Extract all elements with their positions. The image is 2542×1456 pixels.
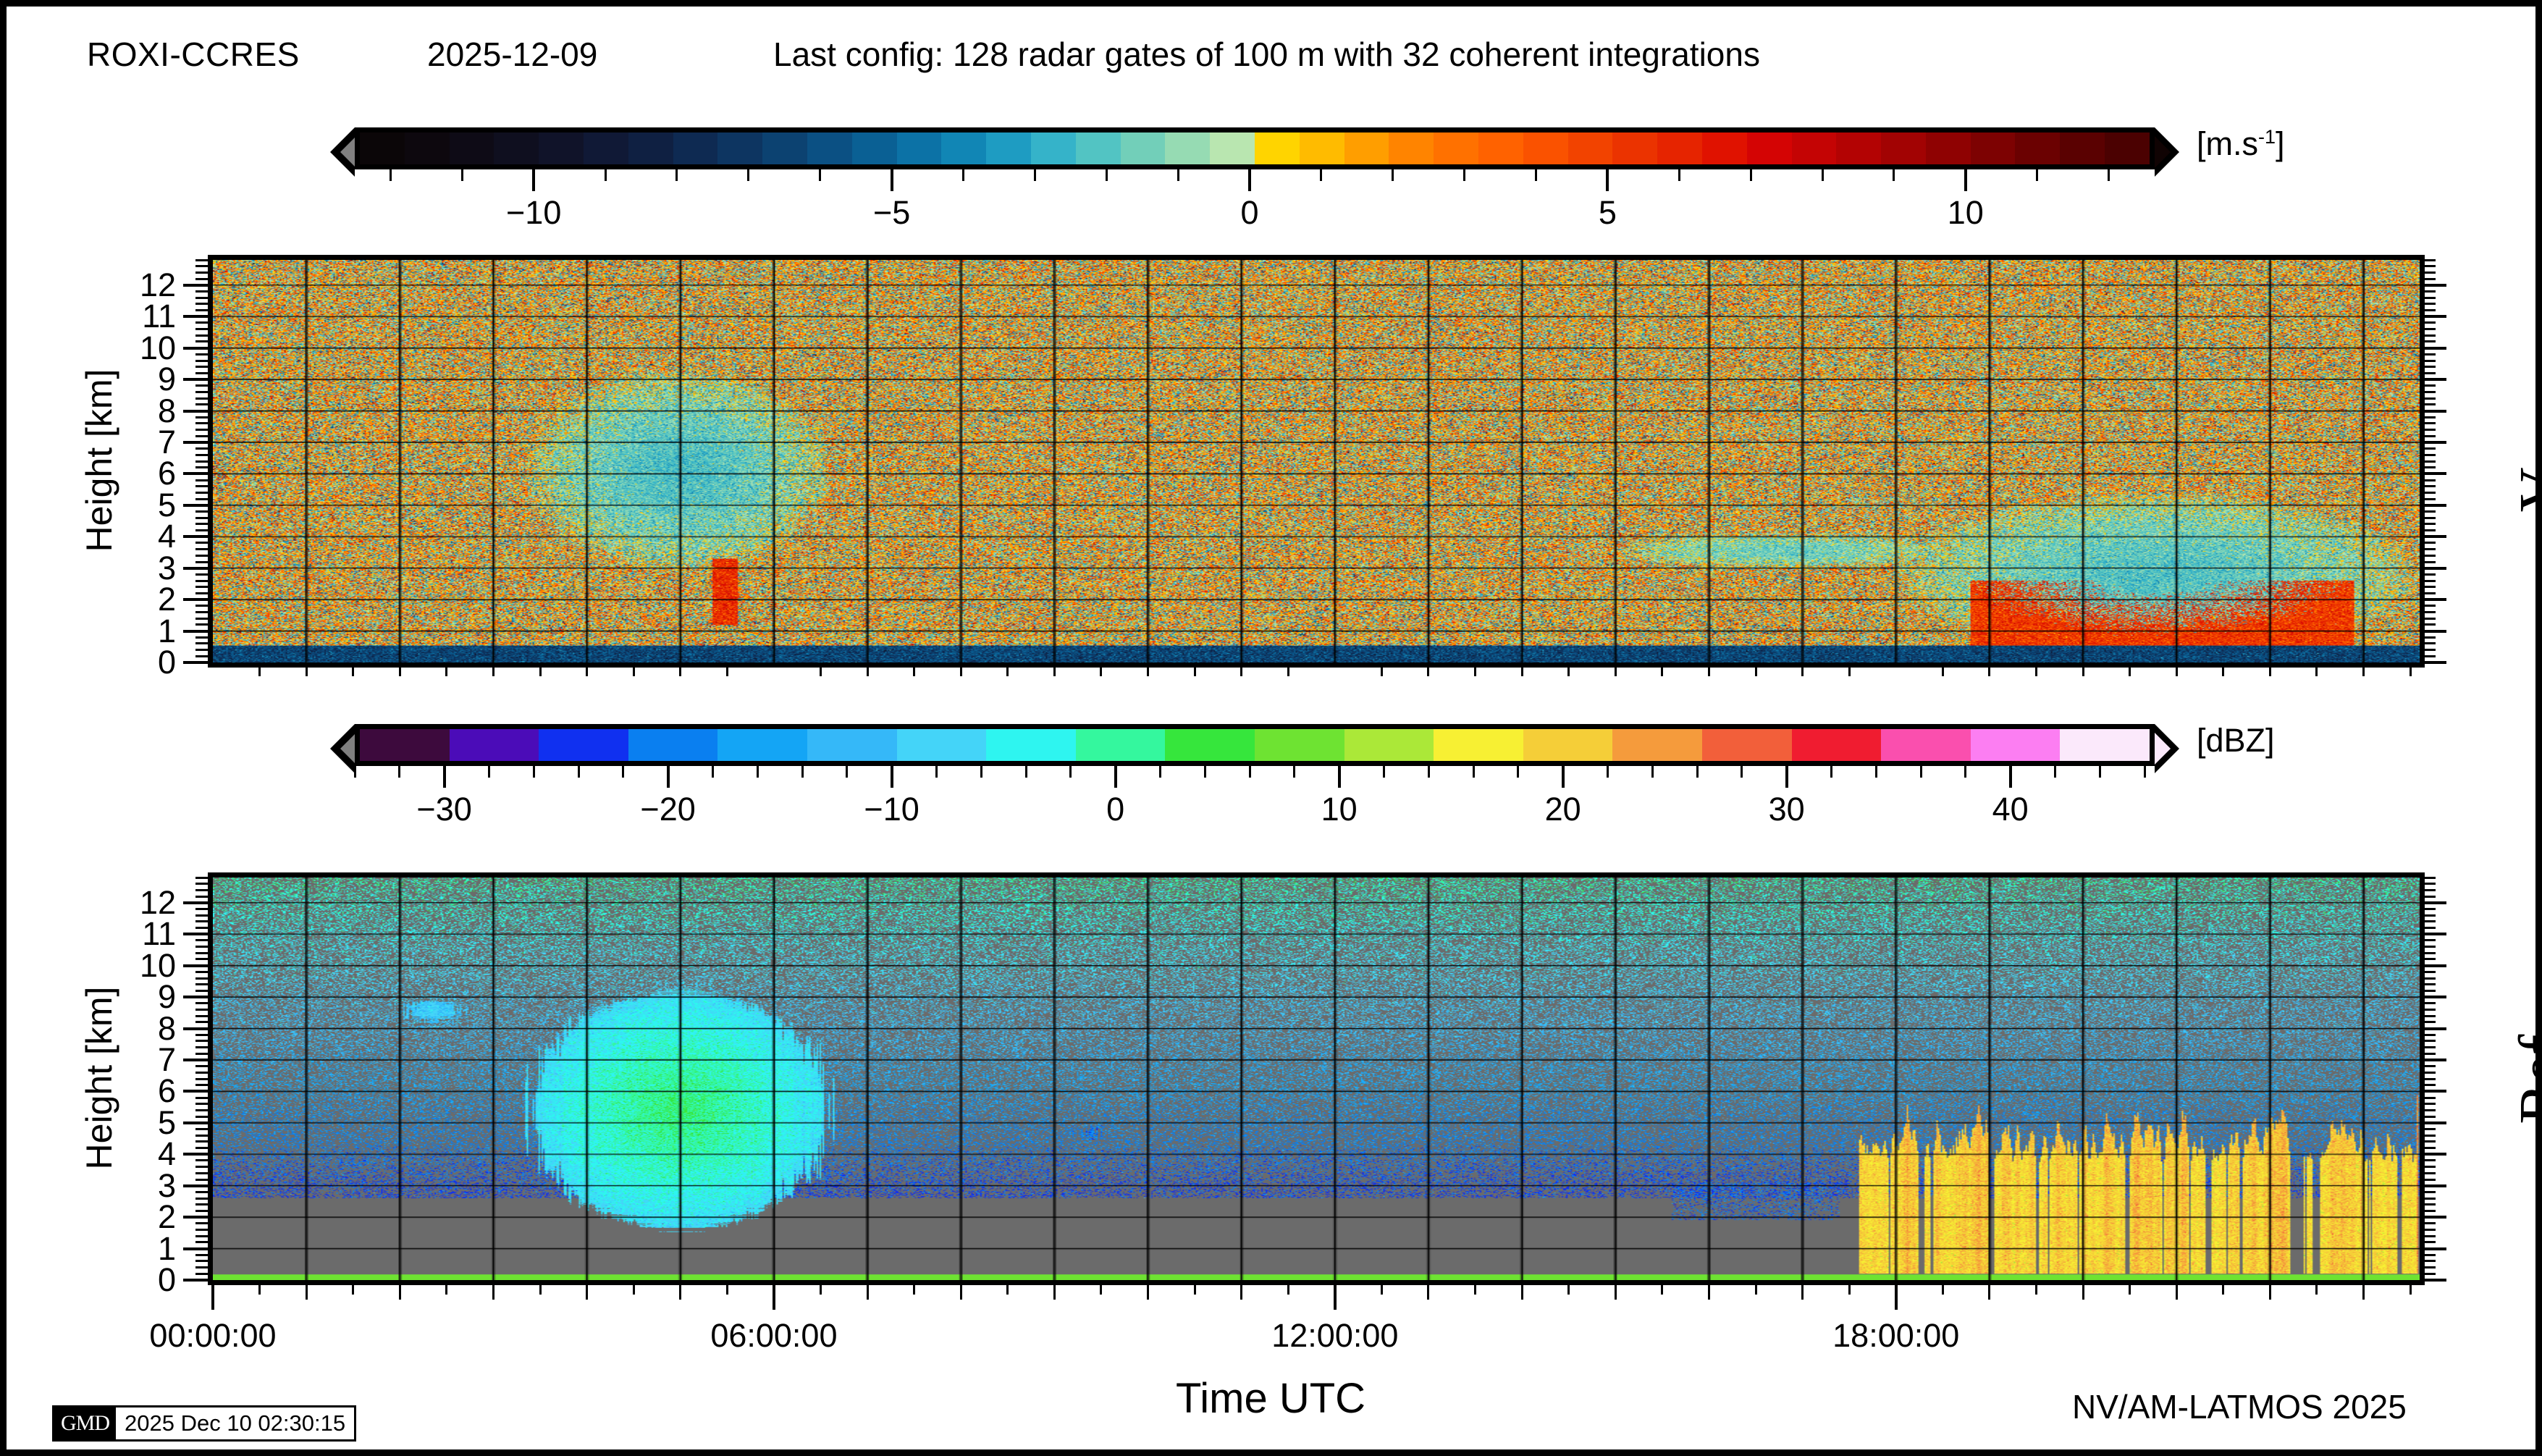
- x-axis-minor-tick-top: [352, 668, 354, 676]
- colorbar-minor-tick: [935, 766, 938, 778]
- y-axis-minor-tick: [195, 1002, 208, 1004]
- x-axis-minor-tick: [1006, 1285, 1009, 1295]
- colorbar-minor-tick: [2108, 169, 2110, 181]
- y-axis-minor-tick: [2425, 454, 2436, 456]
- y-axis-minor-tick: [195, 1097, 208, 1099]
- x-axis-minor-tick: [820, 1285, 822, 1295]
- colorbar-tick-label: 5: [1599, 194, 1617, 232]
- y-axis-minor-tick: [195, 309, 208, 311]
- x-axis-minor-tick-top: [445, 668, 447, 676]
- y-axis-minor-tick: [2425, 372, 2436, 374]
- y-axis-minor-tick: [195, 372, 208, 374]
- y-axis-minor-tick: [2425, 1241, 2436, 1243]
- y-axis-minor-tick: [195, 1084, 208, 1086]
- colorbar-minor-tick: [1249, 766, 1251, 778]
- y-axis-minor-tick: [195, 510, 208, 513]
- y-axis-major-tick-right: [2425, 472, 2446, 475]
- colorbar-tick-label: −10: [864, 791, 919, 828]
- y-axis-minor-tick: [195, 914, 208, 917]
- y-axis-minor-tick: [195, 611, 208, 613]
- colorbar-minor-tick: [1428, 766, 1430, 778]
- colorbar-major-tick: [1562, 766, 1565, 788]
- y-axis-minor-tick: [2425, 1078, 2436, 1080]
- y-axis-major-tick: [183, 1279, 208, 1282]
- y-axis-minor-tick: [195, 1021, 208, 1023]
- colorbar-minor-tick: [846, 766, 848, 778]
- x-axis-minor-tick: [1194, 1285, 1196, 1295]
- y-axis-minor-tick: [195, 1135, 208, 1137]
- y-axis-major-tick: [183, 315, 208, 318]
- x-axis-minor-tick-top: [633, 668, 635, 676]
- y-axis-minor-tick: [2425, 623, 2436, 626]
- y-axis-minor-tick: [195, 939, 208, 941]
- x-axis-minor-tick: [352, 1285, 354, 1295]
- colorbar-minor-tick: [1535, 169, 1537, 181]
- y-axis-minor-tick: [195, 983, 208, 985]
- x-axis-minor-tick: [1848, 1285, 1851, 1295]
- colorbar-minor-tick: [1893, 169, 1895, 181]
- y-axis-major-tick-right: [2425, 347, 2446, 350]
- y-axis-minor-tick: [2425, 1254, 2436, 1256]
- x-axis-title: Time UTC: [1176, 1374, 1365, 1423]
- y-axis-minor-tick: [2425, 1229, 2436, 1231]
- y-axis-minor-tick: [2425, 429, 2436, 431]
- x-axis-minor-tick-top: [539, 668, 542, 676]
- x-axis-minor-tick-top: [1194, 668, 1196, 676]
- y-axis-minor-tick: [2425, 517, 2436, 519]
- y-axis-minor-tick: [195, 416, 208, 418]
- y-axis-minor-tick: [195, 636, 208, 639]
- y-axis-minor-tick: [195, 492, 208, 494]
- x-axis-minor-tick: [1988, 1285, 1990, 1300]
- y-axis-minor-tick: [195, 429, 208, 431]
- y-axis-minor-tick: [195, 334, 208, 337]
- y-axis-minor-tick: [195, 1266, 208, 1268]
- colorbar-tick-label: −20: [640, 791, 695, 828]
- variable-label-doppler: VDop.: [2504, 367, 2542, 541]
- colorbar-minor-tick: [1159, 766, 1161, 778]
- y-axis-minor-tick: [2425, 1002, 2436, 1004]
- x-axis-major-tick: [1895, 1285, 1898, 1310]
- y-axis-minor-tick: [2425, 309, 2436, 311]
- y-axis-minor-tick: [2425, 939, 2436, 941]
- y-axis-minor-tick: [195, 877, 208, 879]
- y-axis-major-tick: [183, 347, 208, 350]
- colorbar-minor-tick: [1383, 766, 1385, 778]
- x-axis-minor-tick-top: [2176, 668, 2178, 676]
- y-axis-minor-tick: [195, 1172, 208, 1174]
- y-axis-minor-tick: [2425, 403, 2436, 405]
- colorbar-tick-label: −30: [416, 791, 471, 828]
- y-axis-minor-tick: [2425, 636, 2436, 639]
- y-axis-minor-tick: [195, 1241, 208, 1243]
- colorbar-minor-tick: [1106, 169, 1108, 181]
- x-axis-minor-tick: [1615, 1285, 1617, 1300]
- x-axis-minor-tick: [679, 1285, 681, 1300]
- y-axis-minor-tick: [195, 1128, 208, 1130]
- y-axis-minor-tick: [2425, 542, 2436, 544]
- y-axis-minor-tick: [2425, 877, 2436, 879]
- x-axis-minor-tick: [726, 1285, 728, 1295]
- render-time: 2025 Dec 10 02:30:15: [116, 1407, 354, 1439]
- y-axis-minor-tick: [2425, 1135, 2436, 1137]
- y-axis-minor-tick: [195, 561, 208, 563]
- y-axis-major-tick: [183, 535, 208, 538]
- y-axis-major-tick-right: [2425, 1247, 2446, 1250]
- y-axis-minor-tick: [2425, 1179, 2436, 1181]
- colorbar-tick-label: 10: [1948, 194, 1984, 232]
- x-axis-minor-tick-top: [679, 668, 681, 676]
- y-axis-minor-tick: [2425, 321, 2436, 324]
- x-axis-minor-tick-top: [1147, 668, 1149, 676]
- y-axis-minor-tick: [2425, 259, 2436, 261]
- y-axis-minor-tick: [2425, 1147, 2436, 1149]
- y-axis-major-tick: [183, 933, 208, 935]
- x-axis-minor-tick: [2035, 1285, 2037, 1295]
- colorbar-minor-tick: [533, 766, 535, 778]
- colorbar-minor-tick: [1607, 766, 1609, 778]
- colorbar-minor-tick: [1517, 766, 1519, 778]
- y-axis-minor-tick: [195, 485, 208, 487]
- colorbar-minor-tick: [801, 766, 804, 778]
- colorbar-major-tick: [2009, 766, 2012, 788]
- y-axis-minor-tick: [195, 1203, 208, 1205]
- y-axis-minor-tick: [195, 580, 208, 582]
- x-axis-minor-tick-top: [586, 668, 588, 676]
- y-axis-tick-label: 12: [106, 266, 176, 304]
- x-axis-major-tick: [211, 1285, 214, 1310]
- colorbar-minor-tick: [1822, 169, 1824, 181]
- y-axis-minor-tick: [2425, 611, 2436, 613]
- y-axis-minor-tick: [195, 1078, 208, 1080]
- colorbar-tick-label: −10: [506, 194, 561, 232]
- y-axis-major-tick-right: [2425, 504, 2446, 507]
- y-axis-major-tick: [183, 284, 208, 287]
- y-axis-minor-tick: [195, 366, 208, 368]
- y-axis-minor-tick: [2425, 523, 2436, 525]
- x-axis-minor-tick: [1287, 1285, 1289, 1295]
- colorbar-tick-label: 0: [1240, 194, 1258, 232]
- y-axis-minor-tick: [195, 1159, 208, 1161]
- y-axis-minor-tick: [195, 623, 208, 626]
- x-axis-minor-tick-top: [2315, 668, 2318, 676]
- x-axis-minor-tick-top: [1848, 668, 1851, 676]
- colorbar-major-tick: [1964, 169, 1967, 191]
- y-axis-minor-tick: [195, 952, 208, 954]
- y-axis-minor-tick: [195, 384, 208, 387]
- colorbar-minor-tick: [488, 766, 490, 778]
- y-axis-major-tick: [183, 630, 208, 633]
- y-axis-minor-tick: [2425, 1140, 2436, 1143]
- colorbar-doppler-gradient: [355, 127, 2155, 169]
- y-axis-major-tick-right: [2425, 933, 2446, 935]
- x-axis-minor-tick-top: [1287, 668, 1289, 676]
- y-axis-minor-tick: [195, 1046, 208, 1048]
- x-axis-minor-tick-top: [1615, 668, 1617, 676]
- y-axis-minor-tick: [195, 397, 208, 400]
- colorbar-minor-tick: [1678, 169, 1680, 181]
- y-axis-major-tick-right: [2425, 1184, 2446, 1187]
- y-axis-minor-tick: [195, 454, 208, 456]
- y-axis-major-tick: [183, 996, 208, 998]
- y-axis-minor-tick: [2425, 435, 2436, 437]
- y-axis-minor-tick: [2425, 649, 2436, 651]
- colorbar-minor-tick: [605, 169, 607, 181]
- y-axis-minor-tick: [2425, 548, 2436, 550]
- y-axis-minor-tick: [195, 1235, 208, 1237]
- y-axis-minor-tick: [195, 958, 208, 960]
- y-axis-major-tick-right: [2425, 567, 2446, 570]
- x-axis-minor-tick-top: [2129, 668, 2131, 676]
- y-axis-minor-tick: [195, 265, 208, 267]
- y-axis-minor-tick: [195, 908, 208, 910]
- colorbar-minor-tick: [1177, 169, 1179, 181]
- y-axis-minor-tick: [2425, 340, 2436, 342]
- y-axis-minor-tick: [2425, 384, 2436, 387]
- y-axis-minor-tick: [195, 605, 208, 607]
- y-axis-minor-tick: [2425, 1159, 2436, 1161]
- y-axis-major-tick-right: [2425, 378, 2446, 381]
- y-axis-minor-tick: [195, 927, 208, 929]
- y-axis-minor-tick: [195, 1065, 208, 1067]
- x-axis-minor-tick: [2269, 1285, 2271, 1300]
- colorbar-minor-tick: [2054, 766, 2056, 778]
- x-axis-minor-tick-top: [2222, 668, 2224, 676]
- x-axis-minor-tick-top: [1100, 668, 1102, 676]
- colorbar-major-tick: [443, 766, 446, 788]
- x-axis-minor-tick: [1381, 1285, 1383, 1295]
- x-axis-minor-tick-top: [1801, 668, 1804, 676]
- colorbar-minor-tick: [1741, 766, 1743, 778]
- y-axis-minor-tick: [2425, 303, 2436, 305]
- y-axis-minor-tick: [195, 1040, 208, 1042]
- x-axis-minor-tick-top: [726, 668, 728, 676]
- y-axis-minor-tick: [195, 328, 208, 330]
- x-axis-major-tick: [1334, 1285, 1337, 1310]
- y-axis-major-tick-right: [2425, 535, 2446, 538]
- y-axis-major-tick-right: [2425, 1027, 2446, 1030]
- colorbar-under-color: [340, 733, 356, 765]
- y-axis-minor-tick: [195, 977, 208, 980]
- y-axis-minor-tick: [2425, 1053, 2436, 1055]
- y-axis-minor-tick: [195, 1034, 208, 1036]
- colorbar-minor-tick: [1392, 169, 1394, 181]
- y-axis-major-tick-right: [2425, 1122, 2446, 1124]
- colorbar-minor-tick: [1830, 766, 1832, 778]
- y-axis-major-tick: [183, 567, 208, 570]
- y-axis-major-tick-right: [2425, 284, 2446, 287]
- y-axis-minor-tick: [2425, 290, 2436, 293]
- y-axis-minor-tick: [195, 592, 208, 594]
- y-axis-minor-tick: [195, 655, 208, 657]
- x-axis-tick-label: 06:00:00: [710, 1317, 837, 1355]
- colorbar-over-color: [2155, 136, 2171, 168]
- y-axis-major-tick: [183, 1122, 208, 1124]
- y-axis-minor-tick: [2425, 447, 2436, 450]
- x-axis-minor-tick: [1708, 1285, 1710, 1300]
- colorbar-minor-tick: [1320, 169, 1322, 181]
- panel-doppler-velocity[interactable]: [208, 255, 2425, 668]
- y-axis-minor-tick: [195, 353, 208, 355]
- colorbar-minor-tick: [1293, 766, 1295, 778]
- y-axis-minor-tick: [195, 340, 208, 342]
- y-axis-minor-tick: [2425, 592, 2436, 594]
- y-axis-minor-tick: [2425, 1009, 2436, 1011]
- y-axis-minor-tick: [2425, 397, 2436, 400]
- y-axis-major-tick: [183, 441, 208, 444]
- y-axis-minor-tick: [195, 618, 208, 620]
- y-axis-minor-tick: [195, 529, 208, 531]
- x-axis-minor-tick-top: [1755, 668, 1757, 676]
- y-axis-minor-tick: [2425, 485, 2436, 487]
- y-axis-minor-tick: [195, 573, 208, 576]
- y-axis-minor-tick: [195, 1260, 208, 1262]
- colorbar-minor-tick: [1750, 169, 1752, 181]
- y-axis-minor-tick: [2425, 529, 2436, 531]
- y-axis-minor-tick: [2425, 334, 2436, 337]
- x-axis-minor-tick: [1100, 1285, 1102, 1295]
- y-axis-major-tick: [183, 964, 208, 967]
- y-axis-minor-tick: [2425, 958, 2436, 960]
- y-axis-minor-tick: [195, 896, 208, 898]
- colorbar-major-tick: [891, 766, 893, 788]
- colorbar-minor-tick: [2036, 169, 2038, 181]
- y-axis-minor-tick: [2425, 908, 2436, 910]
- footer-credit: NV/AM-LATMOS 2025: [2072, 1387, 2407, 1426]
- colorbar-major-tick: [667, 766, 670, 788]
- y-axis-minor-tick: [195, 272, 208, 274]
- render-timestamp-stamp: GMD 2025 Dec 10 02:30:15: [52, 1405, 356, 1442]
- colorbar-minor-tick: [676, 169, 678, 181]
- y-axis-minor-tick: [195, 1229, 208, 1231]
- y-axis-minor-tick: [2425, 1166, 2436, 1168]
- x-axis-minor-tick: [306, 1285, 308, 1300]
- y-axis-minor-tick: [2425, 555, 2436, 557]
- x-axis-minor-tick-top: [1240, 668, 1242, 676]
- y-axis-minor-tick: [2425, 586, 2436, 588]
- colorbar-minor-tick: [1696, 766, 1699, 778]
- colorbar-major-tick: [891, 169, 893, 191]
- y-axis-major-tick-right: [2425, 901, 2446, 904]
- y-axis-minor-tick: [2425, 914, 2436, 917]
- y-axis-minor-tick: [195, 391, 208, 393]
- y-axis-major-tick: [183, 598, 208, 601]
- x-axis-minor-tick-top: [913, 668, 915, 676]
- y-axis-minor-tick: [2425, 479, 2436, 481]
- y-axis-minor-tick: [195, 479, 208, 481]
- x-axis-minor-tick: [1240, 1285, 1242, 1300]
- colorbar-minor-tick: [461, 169, 463, 181]
- x-axis-minor-tick-top: [492, 668, 494, 676]
- colorbar-over-color: [2155, 733, 2171, 765]
- y-axis-minor-tick: [195, 642, 208, 644]
- y-axis-minor-tick: [195, 523, 208, 525]
- y-axis-major-tick-right: [2425, 315, 2446, 318]
- x-axis-minor-tick-top: [1661, 668, 1663, 676]
- y-axis-minor-tick: [195, 649, 208, 651]
- colorbar-tick-label: 30: [1769, 791, 1805, 828]
- y-axis-major-tick-right: [2425, 1153, 2446, 1156]
- y-axis-minor-tick: [2425, 328, 2436, 330]
- y-axis-minor-tick: [195, 1053, 208, 1055]
- colorbar-minor-tick: [2144, 766, 2146, 778]
- y-axis-minor-tick: [2425, 1097, 2436, 1099]
- y-axis-minor-tick: [2425, 1015, 2436, 1017]
- x-axis-minor-tick: [586, 1285, 588, 1300]
- y-axis-minor-tick: [195, 435, 208, 437]
- y-axis-minor-tick: [2425, 561, 2436, 563]
- y-axis-minor-tick: [2425, 498, 2436, 500]
- colorbar-tick-label: −5: [873, 194, 910, 232]
- y-axis-minor-tick: [2425, 920, 2436, 922]
- x-axis-minor-tick-top: [306, 668, 308, 676]
- y-axis-minor-tick: [2425, 360, 2436, 362]
- x-axis-minor-tick-top: [1474, 668, 1476, 676]
- y-axis-major-tick: [183, 1027, 208, 1030]
- x-axis-minor-tick: [1474, 1285, 1476, 1295]
- y-axis-minor-tick: [2425, 896, 2436, 898]
- colorbar-major-tick: [532, 169, 535, 191]
- y-axis-minor-tick: [195, 1140, 208, 1143]
- x-axis-minor-tick: [1801, 1285, 1804, 1300]
- colorbar-minor-tick: [1069, 766, 1072, 778]
- x-axis-minor-tick-top: [1942, 668, 1944, 676]
- y-axis-major-tick-right: [2425, 441, 2446, 444]
- y-axis-minor-tick: [2425, 883, 2436, 885]
- panel-reflectivity[interactable]: [208, 872, 2425, 1285]
- y-axis-minor-tick: [2425, 353, 2436, 355]
- x-axis-minor-tick: [1755, 1285, 1757, 1295]
- x-axis-minor-tick: [1521, 1285, 1523, 1300]
- colorbar-minor-tick: [390, 169, 392, 181]
- y-axis-minor-tick: [2425, 642, 2436, 644]
- y-axis-minor-tick: [2425, 1203, 2436, 1205]
- y-axis-minor-tick: [2425, 510, 2436, 513]
- y-axis-minor-tick: [2425, 1046, 2436, 1048]
- y-axis-minor-tick: [2425, 1065, 2436, 1067]
- x-axis-minor-tick: [2362, 1285, 2365, 1300]
- y-axis-major-tick-right: [2425, 1059, 2446, 1061]
- colorbar-minor-tick: [1964, 766, 1966, 778]
- x-axis-minor-tick-top: [1988, 668, 1990, 676]
- colorbar-major-tick: [1114, 766, 1117, 788]
- y-axis-major-tick-right: [2425, 1279, 2446, 1282]
- x-axis-minor-tick-top: [1708, 668, 1710, 676]
- x-axis-minor-tick: [2129, 1285, 2131, 1295]
- x-axis-minor-tick: [1053, 1285, 1056, 1300]
- y-axis-minor-tick: [195, 548, 208, 550]
- station-name: ROXI-CCRES: [87, 35, 300, 74]
- colorbar-reflectivity-gradient: [355, 724, 2155, 766]
- y-axis-minor-tick: [2425, 889, 2436, 891]
- y-axis-major-tick: [183, 901, 208, 904]
- colorbar-minor-tick: [578, 766, 580, 778]
- gmd-logo: GMD: [54, 1407, 116, 1439]
- colorbar-minor-tick: [622, 766, 624, 778]
- y-axis-major-tick-right: [2425, 1216, 2446, 1219]
- x-axis-tick-label: 00:00:00: [149, 1317, 276, 1355]
- colorbar-under-color: [340, 136, 356, 168]
- y-axis-minor-tick: [2425, 927, 2436, 929]
- x-axis-tick-label: 12:00:00: [1271, 1317, 1398, 1355]
- y-axis-minor-tick: [195, 920, 208, 922]
- y-axis-minor-tick: [195, 278, 208, 280]
- x-axis-minor-tick-top: [2362, 668, 2365, 676]
- y-axis-minor-tick: [195, 403, 208, 405]
- y-axis-major-tick-right: [2425, 661, 2446, 664]
- x-axis-minor-tick-top: [867, 668, 869, 676]
- y-axis-minor-tick: [2425, 460, 2436, 463]
